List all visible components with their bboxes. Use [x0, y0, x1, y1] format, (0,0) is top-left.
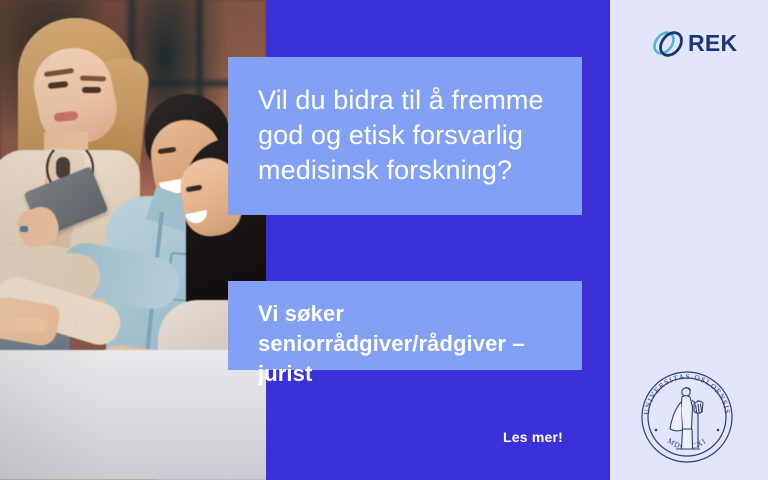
person-blonde-eyebrow	[80, 76, 106, 82]
job-title: Vi søker seniorrådgiver/rådgiver – juris…	[258, 299, 552, 389]
seal-dot	[655, 429, 658, 432]
person-blonde-eye	[82, 87, 101, 93]
page-title: Vil du bidra til å fremme god og etisk f…	[258, 83, 552, 188]
team-collaboration-photo	[0, 0, 266, 480]
uio-seal: UNIVERSITAS OSLOENSIS MDCCCXI	[634, 364, 740, 470]
rek-interlocking-rings-icon	[650, 26, 686, 60]
rek-logo[interactable]: REK	[650, 26, 737, 60]
pointing-finger	[0, 317, 48, 332]
finger-ring	[20, 226, 28, 232]
rek-wordmark: REK	[688, 32, 737, 55]
desk-surface	[0, 350, 266, 480]
read-more-link[interactable]: Les mer!	[503, 429, 563, 445]
headline-box: Vil du bidra til å fremme god og etisk f…	[228, 57, 582, 215]
job-advert-banner: Vil du bidra til å fremme god og etisk f…	[0, 0, 768, 480]
subheadline-box: Vi søker seniorrådgiver/rådgiver – juris…	[228, 281, 582, 370]
seal-dot	[717, 429, 720, 432]
